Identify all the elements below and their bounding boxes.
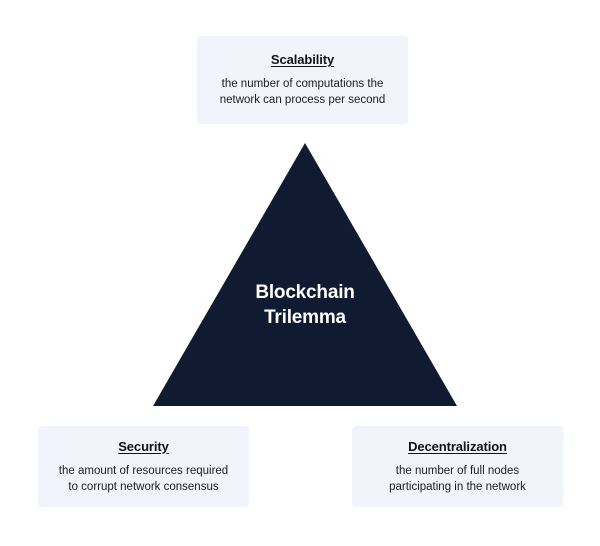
callout-security[interactable]: Security the amount of resources require… (38, 426, 249, 507)
blockchain-trilemma-diagram: Blockchain Trilemma Scalability the numb… (0, 0, 600, 546)
trilemma-triangle: Blockchain Trilemma (150, 140, 460, 410)
callout-scalability-title: Scalability (271, 52, 334, 67)
callout-security-title: Security (118, 439, 169, 454)
callout-scalability-description: the number of computations the network c… (210, 76, 396, 108)
callout-decentralization[interactable]: Decentralization the number of full node… (352, 426, 563, 507)
triangle-shape (153, 143, 457, 406)
callout-decentralization-description: the number of full nodes participating i… (379, 463, 536, 495)
callout-scalability[interactable]: Scalability the number of computations t… (197, 36, 408, 124)
callout-security-description: the amount of resources required to corr… (49, 463, 238, 495)
callout-decentralization-title: Decentralization (408, 439, 507, 454)
